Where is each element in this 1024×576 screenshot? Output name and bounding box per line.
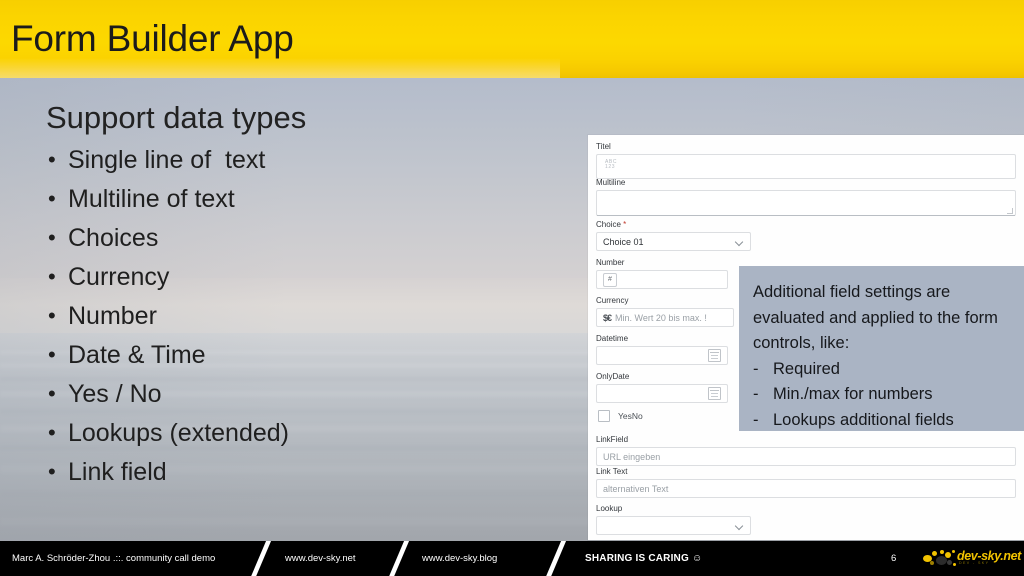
field-label-number: Number — [596, 257, 728, 268]
section-heading: Support data types — [46, 98, 566, 138]
list-item: Single line of text — [46, 141, 566, 180]
data-types-list: Single line of text Multiline of text Ch… — [46, 141, 566, 492]
field-label-linktext: Link Text — [596, 466, 1016, 477]
chevron-down-icon — [736, 522, 744, 530]
datetime-input[interactable] — [596, 346, 728, 365]
field-label-yesno: YesNo — [618, 411, 643, 421]
field-linkfield: LinkField URL eingeben — [596, 434, 1016, 466]
field-label-onlydate: OnlyDate — [596, 371, 728, 382]
footer-tagline: SHARING IS CARING ☺ — [585, 541, 702, 576]
field-datetime: Datetime — [596, 333, 728, 365]
footer-separator — [543, 541, 568, 576]
linkfield-placeholder: URL eingeben — [603, 452, 660, 462]
footer-site-1[interactable]: www.dev-sky.net — [285, 541, 356, 576]
field-label-choice: Choice * — [596, 219, 751, 230]
callout-item-label: Lookups additional fields — [773, 408, 954, 434]
dev-sky-logo: dev-sky.net DEV - SKY — [921, 548, 1021, 570]
field-label-multiline: Multiline — [596, 177, 1016, 188]
field-choice: Choice * Choice 01 — [596, 219, 751, 251]
field-yesno[interactable]: YesNo — [598, 410, 643, 422]
callout-item: - Min./max for numbers — [753, 382, 1010, 408]
chevron-down-icon — [736, 238, 744, 246]
field-number: Number # — [596, 257, 728, 289]
list-item: Date & Time — [46, 336, 566, 375]
choice-dropdown[interactable]: Choice 01 — [596, 232, 751, 251]
field-titel: Titel ABC 123 — [596, 141, 1016, 179]
dash-marker: - — [753, 408, 763, 434]
footer-author: Marc A. Schröder-Zhou .::. community cal… — [12, 541, 215, 576]
logo-dot — [953, 563, 956, 566]
lookup-dropdown[interactable] — [596, 516, 751, 535]
page-title: Form Builder App — [11, 16, 294, 62]
logo-dot — [930, 561, 934, 565]
textarea-underline — [597, 215, 1015, 216]
linktext-placeholder: alternativen Text — [603, 484, 668, 494]
list-item: Currency — [46, 258, 566, 297]
linkfield-input[interactable]: URL eingeben — [596, 447, 1016, 466]
page-number: 6 — [891, 541, 896, 576]
calendar-icon[interactable] — [708, 349, 721, 362]
required-asterisk: * — [623, 220, 626, 229]
list-item: Link field — [46, 453, 566, 492]
callout-item: - Required — [753, 357, 1010, 383]
content-block: Support data types Single line of text M… — [46, 98, 566, 492]
hash-icon: # — [603, 273, 617, 287]
onlydate-input[interactable] — [596, 384, 728, 403]
callout-box: Additional field settings are evaluated … — [739, 266, 1024, 431]
yesno-checkbox[interactable] — [598, 410, 610, 422]
title-band: Form Builder App — [0, 0, 1024, 78]
dash-marker: - — [753, 382, 763, 408]
field-label-lookup: Lookup — [596, 503, 751, 514]
footer-site-2[interactable]: www.dev-sky.blog — [422, 541, 497, 576]
logo-dot — [947, 560, 952, 565]
field-label-linkfield: LinkField — [596, 434, 1016, 445]
slide: Form Builder App Support data types Sing… — [0, 0, 1024, 576]
currency-placeholder: Min. Wert 20 bis max. ! — [615, 313, 707, 323]
logo-subtext: DEV - SKY — [959, 561, 989, 565]
titel-input[interactable]: ABC 123 — [596, 154, 1016, 179]
multiline-textarea[interactable] — [596, 190, 1016, 216]
list-item: Yes / No — [46, 375, 566, 414]
currency-icon: $€ — [603, 313, 611, 323]
callout-item-label: Min./max for numbers — [773, 382, 933, 408]
abc-123-placeholder-icon: ABC 123 — [603, 158, 617, 170]
field-multiline: Multiline — [596, 177, 1016, 216]
list-item: Lookups (extended) — [46, 414, 566, 453]
field-onlydate: OnlyDate — [596, 371, 728, 403]
footer-bar: Marc A. Schröder-Zhou .::. community cal… — [0, 541, 1024, 576]
footer-separator — [248, 541, 273, 576]
linktext-input[interactable]: alternativen Text — [596, 479, 1016, 498]
logo-dot — [940, 550, 944, 554]
dash-marker: - — [753, 357, 763, 383]
list-item: Choices — [46, 219, 566, 258]
choice-selected-value: Choice 01 — [603, 237, 644, 247]
logo-dot — [945, 552, 951, 558]
list-item: Number — [46, 297, 566, 336]
field-lookup: Lookup — [596, 503, 751, 535]
calendar-icon[interactable] — [708, 387, 721, 400]
field-currency: Currency $€ Min. Wert 20 bis max. ! — [596, 295, 734, 327]
field-linktext: Link Text alternativen Text — [596, 466, 1016, 498]
currency-input[interactable]: $€ Min. Wert 20 bis max. ! — [596, 308, 734, 327]
number-input[interactable]: # — [596, 270, 728, 289]
field-label-datetime: Datetime — [596, 333, 728, 344]
field-label-currency: Currency — [596, 295, 734, 306]
callout-item: - Lookups additional fields — [753, 408, 1010, 434]
footer-separator — [386, 541, 411, 576]
callout-item-label: Required — [773, 357, 840, 383]
field-label-titel: Titel — [596, 141, 1016, 152]
list-item: Multiline of text — [46, 180, 566, 219]
callout-paragraph: Additional field settings are evaluated … — [753, 280, 1010, 357]
logo-dot — [932, 551, 937, 556]
logo-dot — [952, 550, 955, 553]
